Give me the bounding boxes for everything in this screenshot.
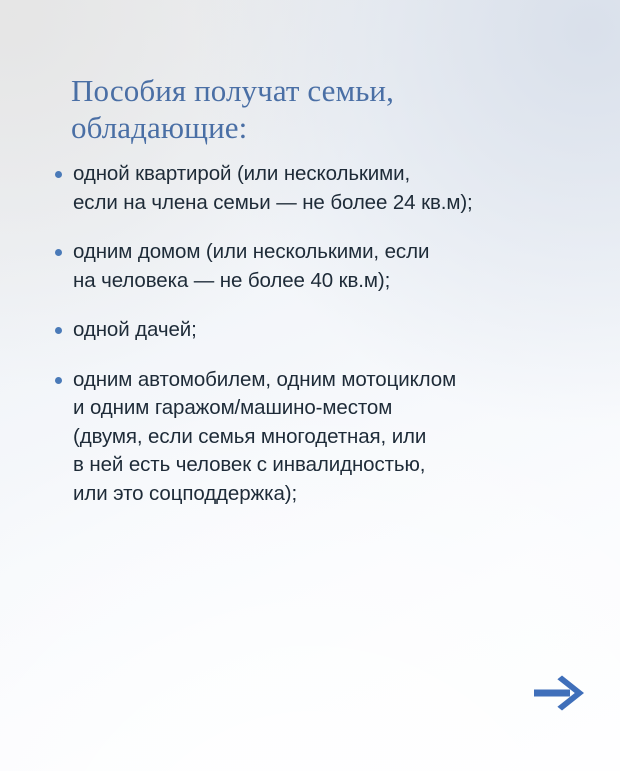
list-item-text: одним автомобилем, одним мотоциклом и од… [73,366,612,509]
list-item-line: (двумя, если семья многодетная, или [73,423,612,452]
list-item-vehicle: одним автомобилем, одним мотоциклом и од… [52,366,612,509]
infographic-slide: Пособия получат семьи, обладающие: одной… [0,0,620,771]
list-item-line: и одним гаражом/машино-местом [73,394,612,423]
bullet-dot-icon [55,377,62,384]
title-line-2: обладающие: [71,109,541,146]
list-item-line: одной квартирой (или несколькими, [73,160,612,189]
arrow-right-icon[interactable] [532,673,588,713]
list-item-line: одним домом (или несколькими, если [73,238,612,267]
list-item-text: одним домом (или несколькими, если на че… [73,238,612,295]
bullet-dot-icon [55,171,62,178]
bullet-dot-icon [55,249,62,256]
criteria-bullet-list: одной квартирой (или несколькими, если н… [52,160,612,508]
list-item-line: или это соцподдержка); [73,480,612,509]
list-item-line: одним автомобилем, одним мотоциклом [73,366,612,395]
list-item-line: если на члена семьи — не более 24 кв.м); [73,189,612,218]
page-title: Пособия получат семьи, обладающие: [71,72,541,146]
arrow-right-glyph [534,676,584,711]
list-item-house: одним домом (или несколькими, если на че… [52,238,612,295]
list-item-line: в ней есть человек с инвалидностью, [73,451,612,480]
list-item-text: одной дачей; [73,316,612,345]
list-item-text: одной квартирой (или несколькими, если н… [73,160,612,217]
list-item-dacha: одной дачей; [52,316,612,345]
list-item-apartment: одной квартирой (или несколькими, если н… [52,160,612,217]
bullet-dot-icon [55,327,62,334]
list-item-line: одной дачей; [73,316,612,345]
list-item-line: на человека — не более 40 кв.м); [73,267,612,296]
title-line-1: Пособия получат семьи, [71,72,541,109]
